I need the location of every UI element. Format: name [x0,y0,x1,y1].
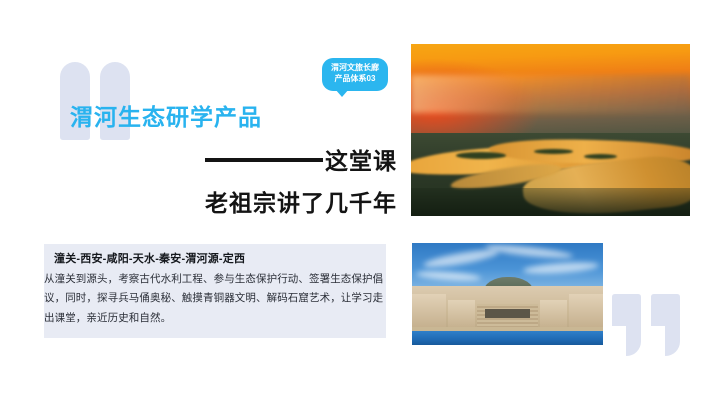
photo-monument [412,243,603,345]
close-quote-notch [612,326,626,356]
close-quote-notch [651,326,665,356]
close-quote-icon [612,294,688,356]
headline-primary-text: 这堂课 [325,142,397,176]
headline-rule-icon [205,158,323,162]
photo-sunset-river [411,44,690,216]
sunset-foreground [411,188,690,216]
route-label: 潼关-西安-咸阳-天水-秦安-渭河源-定西 [54,250,245,266]
monument-pool [412,331,603,345]
monument-plaque [485,309,531,318]
close-quote-mark-right [651,294,680,356]
sunset-haze [411,75,690,113]
badge-line-1: 渭河文旅长廊 [331,63,379,74]
status-badge: 渭河文旅长廊 产品体系03 [322,58,388,91]
headline-primary: 这堂课 [205,142,397,176]
page-title: 渭河生态研学产品 [70,98,262,132]
monument-block [569,294,603,331]
close-quote-mark-left [612,294,641,356]
badge-container: 渭河文旅长廊 产品体系03 [322,58,388,91]
badge-pointer-icon [335,89,349,97]
monument-block [412,294,446,331]
badge-line-2: 产品体系03 [331,74,379,85]
body-paragraph: 从潼关到源头，考察古代水利工程、参与生态保护行动、签署生态保护倡议，同时，探寻兵… [44,270,392,328]
headline-secondary: 老祖宗讲了几千年 [205,184,397,218]
slide-canvas: 渭河生态研学产品 渭河文旅长廊 产品体系03 这堂课 老祖宗讲了几千年 潼关-西… [0,0,715,400]
